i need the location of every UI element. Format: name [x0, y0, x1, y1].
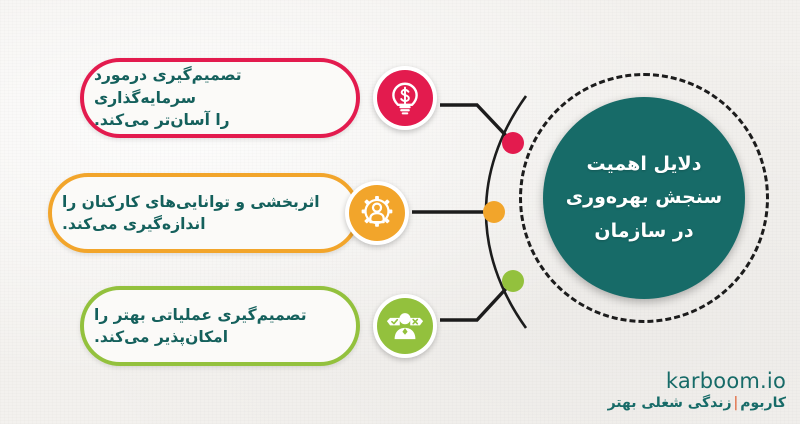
card-2-text: اثربخشی و توانایی‌های کارکنان را اندازه‌… [52, 191, 356, 236]
card-2-icon-disc [349, 185, 405, 241]
card-investment-decision[interactable]: تصمیم‌گیری درمورد سرمایه‌گذاری را آسان‌ت… [80, 58, 360, 138]
brand-tagline: کاربوم|زندگی شغلی بهتر [608, 395, 786, 412]
card-2-icon-badge [345, 181, 409, 245]
hub-circle: دلایل اهمیت سنجش بهره‌وری در سازمان [543, 97, 745, 299]
brand-tagline-left: زندگی شغلی بهتر [608, 395, 732, 411]
reject-tag [410, 318, 423, 326]
infographic-canvas: تصمیم‌گیری درمورد سرمایه‌گذاری را آسان‌ت… [0, 0, 800, 424]
connector-node-orange [483, 201, 505, 223]
card-1-text: تصمیم‌گیری درمورد سرمایه‌گذاری را آسان‌ت… [84, 64, 356, 131]
brand-footer: karboom.io کاربوم|زندگی شغلی بهتر [608, 370, 786, 412]
person-approve-reject-icon [385, 306, 425, 346]
brand-name: karboom.io [608, 370, 786, 392]
card-1-icon-disc [377, 70, 433, 126]
brand-tagline-right: کاربوم [740, 395, 786, 411]
card-1-icon-badge [373, 66, 437, 130]
card-employee-capability[interactable]: اثربخشی و توانایی‌های کارکنان را اندازه‌… [48, 173, 360, 253]
connector-node-crimson [502, 132, 524, 154]
gear-person-icon [358, 194, 396, 232]
lightbulb-dollar-icon [387, 80, 423, 116]
card-3-icon-disc [377, 298, 433, 354]
connector-node-green [502, 270, 524, 292]
card-operational-decision[interactable]: تصمیم‌گیری عملیاتی بهتر را امکان‌پذیر می… [80, 286, 360, 366]
hub-title: دلایل اهمیت سنجش بهره‌وری در سازمان [566, 148, 722, 248]
brand-tagline-separator: | [732, 395, 741, 411]
card-3-icon-badge [373, 294, 437, 358]
approve-tag [387, 318, 400, 326]
card-3-text: تصمیم‌گیری عملیاتی بهتر را امکان‌پذیر می… [84, 304, 356, 349]
